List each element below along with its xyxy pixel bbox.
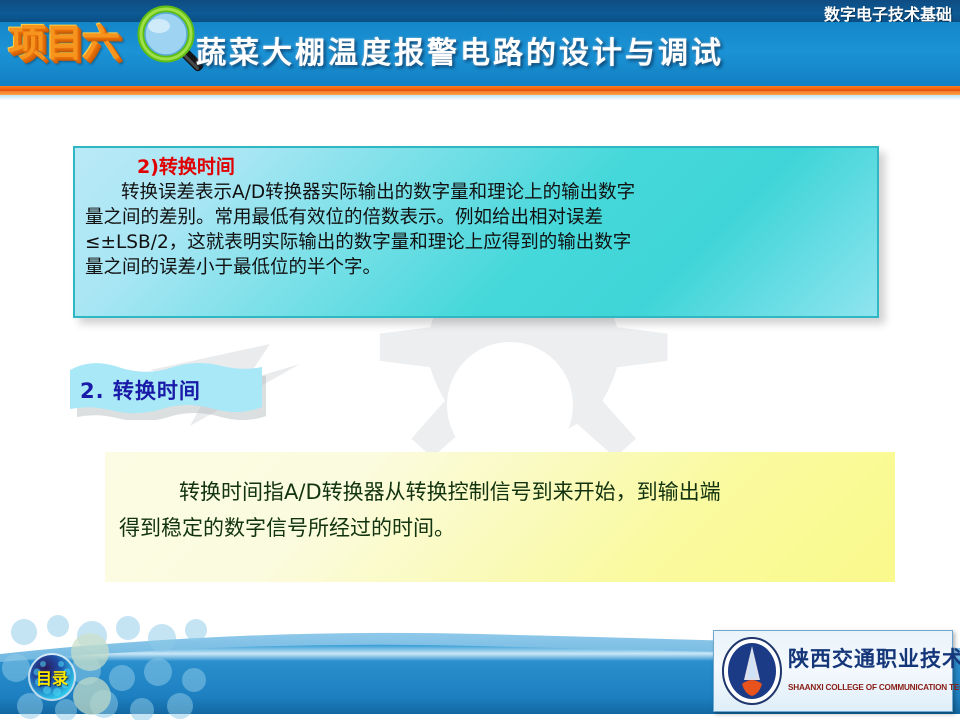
slide-title: 蔬菜大棚温度报警电路的设计与调试: [196, 28, 724, 72]
slide-canvas: 数字电子技术基础 项目六 蔬菜大棚温度报警电路的设计与调试 2)转换时间 转换误…: [0, 0, 960, 720]
cyan-box-line-3: ≤±LSB/2，这就表明实际输出的数字量和理论上应得到的输出数字: [85, 230, 865, 255]
cyan-box-body: 转换误差表示A/D转换器实际输出的数字量和理论上的输出数字 量之间的差别。常用最…: [85, 180, 865, 280]
section-heading-label: 2. 转换时间: [80, 375, 201, 405]
project-badge-label: 项目六: [8, 12, 119, 67]
yellow-box-line-1: 转换时间指A/D转换器从转换控制信号到来开始，到输出端: [119, 474, 879, 510]
cyan-box-heading: 2)转换时间: [137, 154, 865, 180]
conversion-time-box: 转换时间指A/D转换器从转换控制信号到来开始，到输出端 得到稳定的数字信号所经过…: [105, 452, 895, 582]
conversion-error-box: 2)转换时间 转换误差表示A/D转换器实际输出的数字量和理论上的输出数字 量之间…: [73, 146, 879, 318]
cyan-box-line-4: 量之间的误差小于最低位的半个字。: [85, 255, 865, 280]
yellow-box-body: 转换时间指A/D转换器从转换控制信号到来开始，到输出端 得到稳定的数字信号所经过…: [119, 474, 879, 546]
project-badge: 项目六: [8, 4, 128, 90]
cyan-box-line-1: 转换误差表示A/D转换器实际输出的数字量和理论上的输出数字: [85, 180, 865, 205]
college-name-cn: 陕西交通职业技术学院: [788, 643, 960, 673]
magnifier-icon: [120, 4, 206, 90]
college-logo: 陕西交通职业技术学院 SHAANXI COLLEGE OF COMMUNICAT…: [713, 630, 953, 712]
college-emblem-icon: [720, 636, 784, 706]
header-underline-white: [0, 95, 960, 100]
yellow-box-line-2: 得到稳定的数字信号所经过的时间。: [119, 510, 879, 546]
cyan-box-line-2: 量之间的差别。常用最低有效位的倍数表示。例如给出相对误差: [85, 205, 865, 230]
college-name-en: SHAANXI COLLEGE OF COMMUNICATION TECHNOL…: [788, 683, 960, 692]
table-of-contents-button[interactable]: [27, 652, 77, 702]
